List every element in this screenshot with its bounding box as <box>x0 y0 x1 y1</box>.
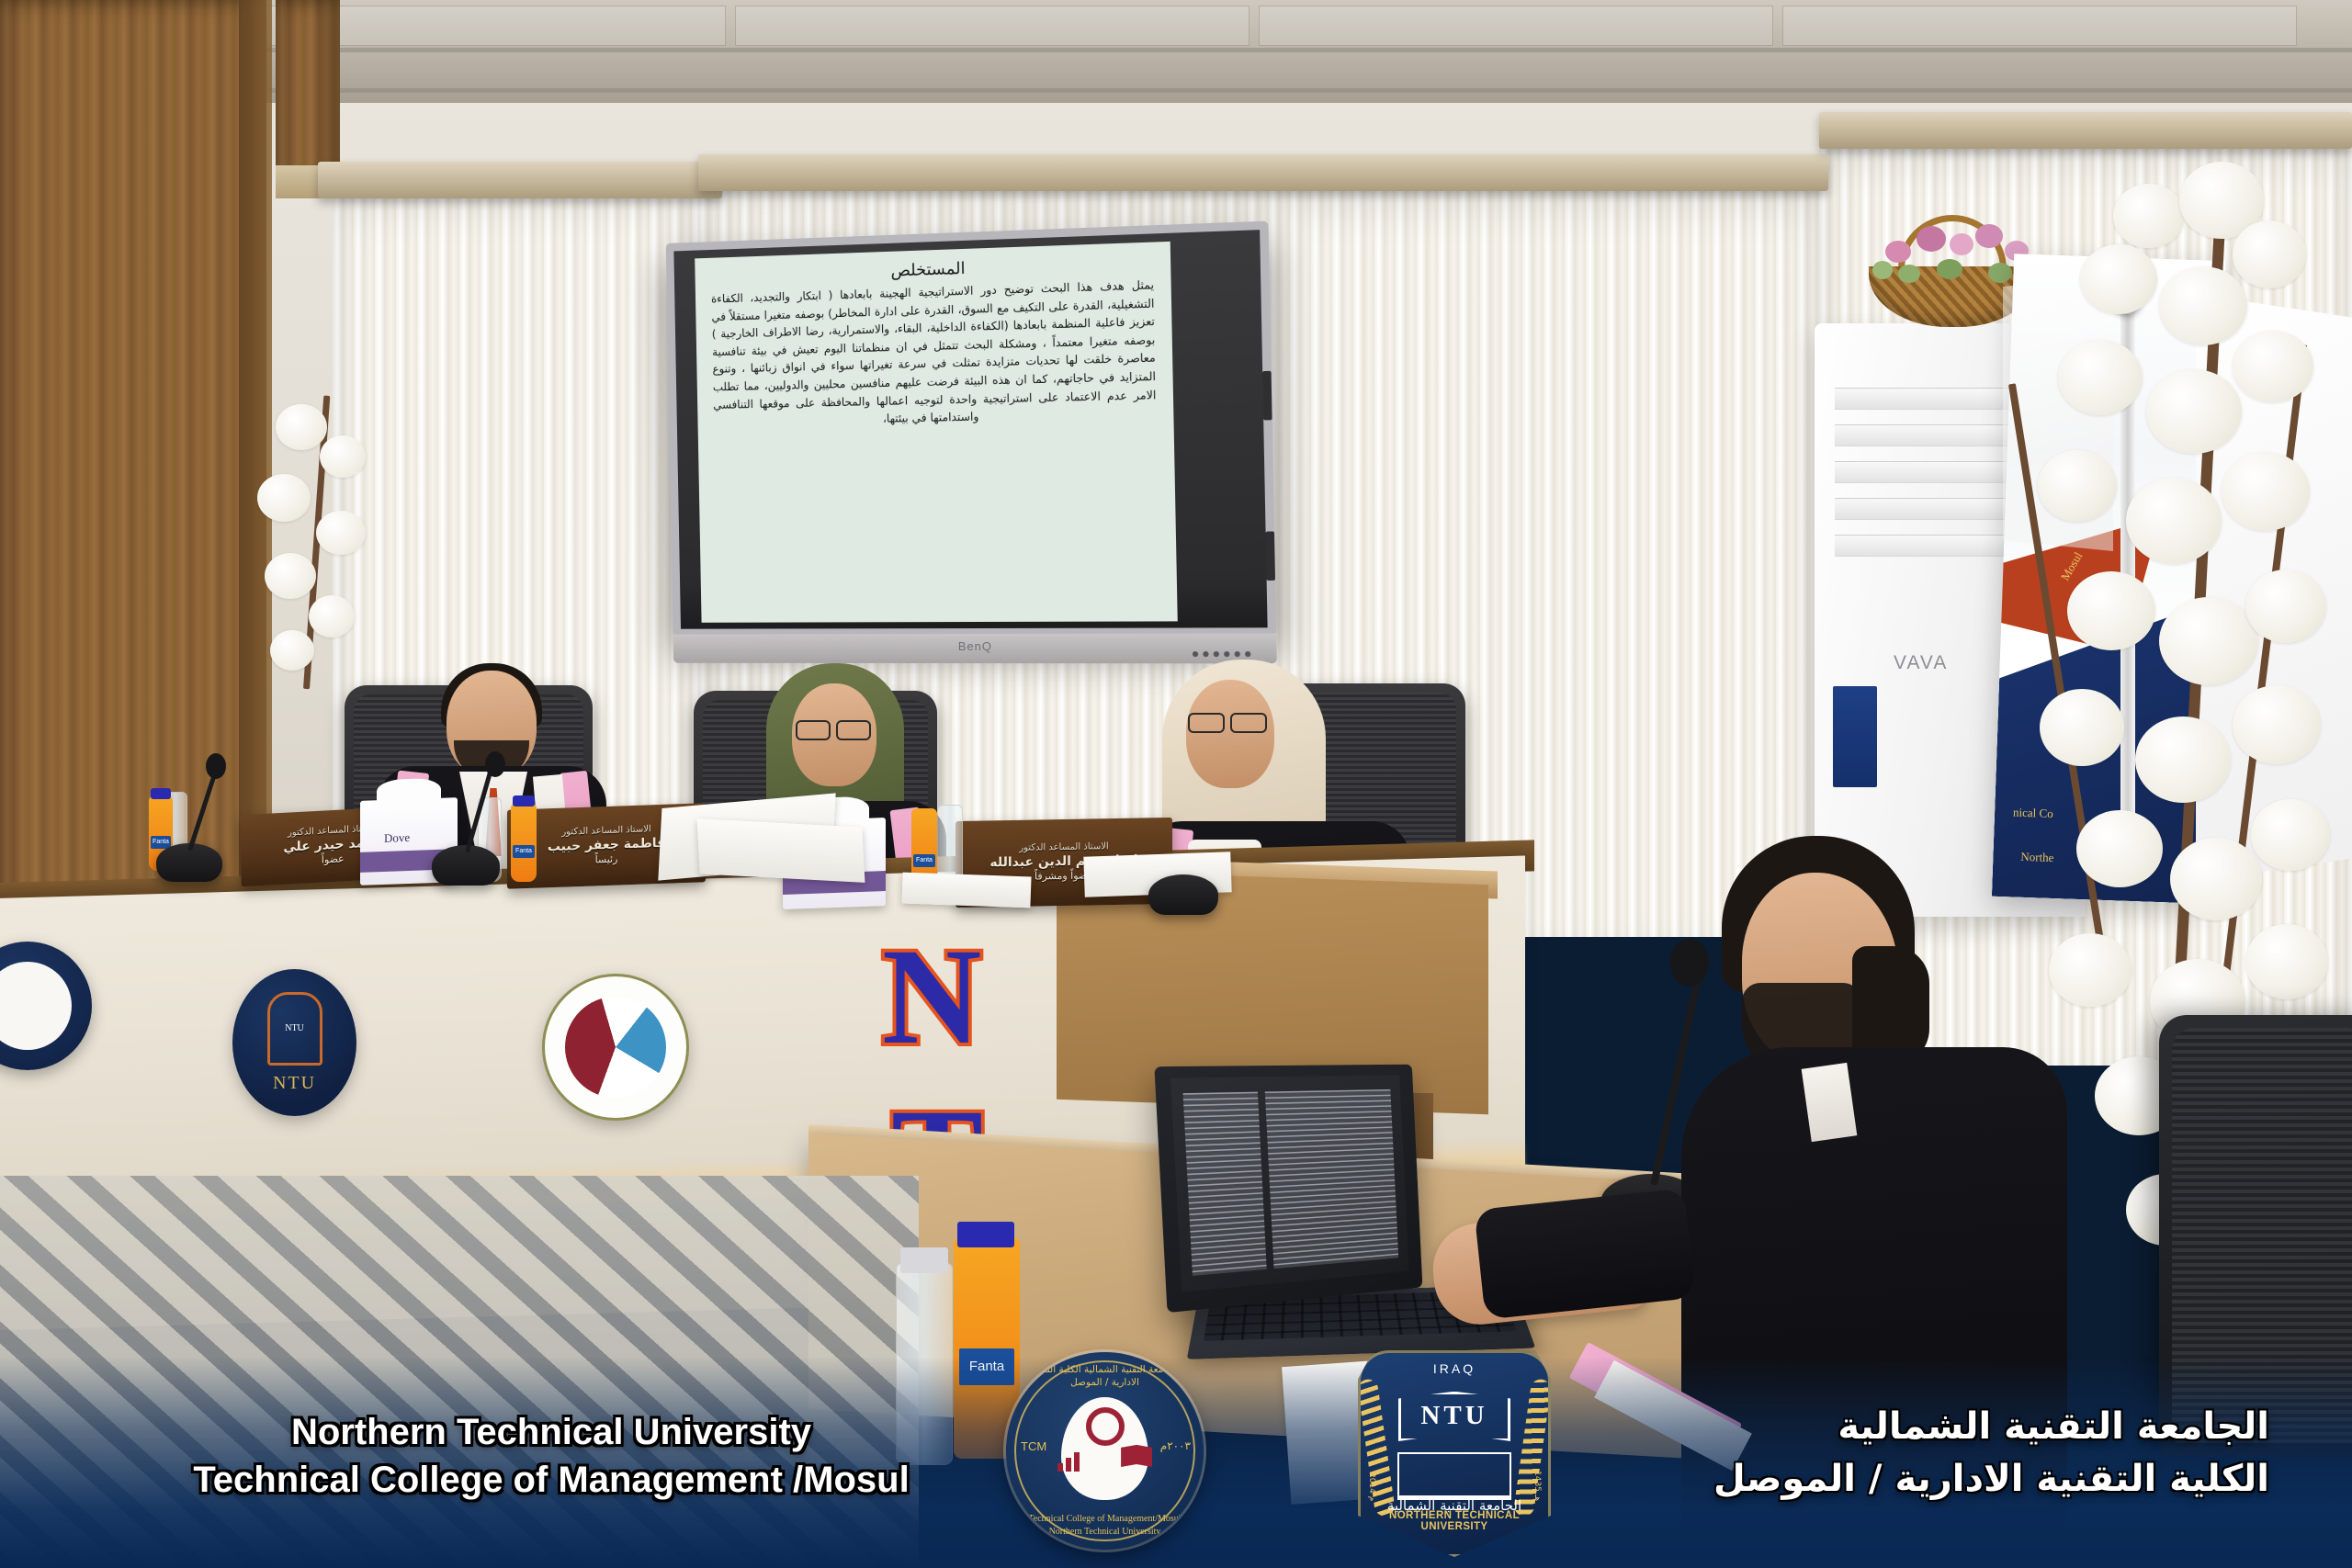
bottle-cap <box>151 788 171 799</box>
bar-chart-icon <box>1057 1451 1080 1472</box>
smart-board[interactable]: المستخلص يمثل هدف هذا البحث توضيح دور ال… <box>666 221 1277 637</box>
paper-stack <box>697 818 865 883</box>
curtain-rail-center <box>698 154 1828 191</box>
curtain-rail-left <box>318 162 722 198</box>
seal-ntu-monogram: NTU <box>1361 1401 1548 1431</box>
nameplate-name: فاطمة جعفر حبيب <box>548 836 665 855</box>
gear-icon <box>1086 1407 1125 1446</box>
overlay-arabic-branding: الجامعة التقنية الشمالية الكلية التقنية … <box>1516 1401 2269 1506</box>
ntu-shield-mark: NTU <box>267 992 322 1066</box>
photo-scene: المستخلص يمثل هدف هذا البحث توضيح دور ال… <box>0 0 2352 1568</box>
curtain-rail-right <box>1819 112 2352 149</box>
board-side-button[interactable] <box>1266 531 1275 580</box>
tissue-brand-label: Dove <box>384 830 410 846</box>
eyeglasses <box>1230 713 1267 733</box>
ceiling-panel <box>1259 6 1773 46</box>
seal-tcm-year: ٢٠٠٣م <box>1160 1439 1191 1452</box>
ministry-logo <box>542 974 689 1121</box>
microphone-head-front <box>1670 939 1709 987</box>
overlay-arabic-line2: الكلية التقنية الادارية / الموصل <box>1516 1453 2269 1506</box>
seal-northern-technical-university: IRAQ NTU م 2014 هـ 1435 الجامعة التقنية … <box>1358 1350 1551 1557</box>
seal-tcm-english: Technical College of Management/Mosul No… <box>1006 1513 1204 1539</box>
microphone-head <box>206 753 226 779</box>
nameplate-role: رئيساً <box>595 854 618 867</box>
bottle-cap <box>957 1222 1014 1247</box>
ntu-shield-label: NTU <box>285 1023 304 1033</box>
nameplate-rank: الاستاذ المساعد الدكتور <box>561 824 650 838</box>
slide-screen: المستخلص يمثل هدف هذا البحث توضيح دور ال… <box>695 242 1178 623</box>
overlay-arabic-line1: الجامعة التقنية الشمالية <box>1516 1401 2269 1453</box>
ceiling-panel <box>735 6 1249 46</box>
soda-brand-label: Fanta <box>513 845 535 858</box>
nameplate-rank: الاستاذ المساعد الدكتور <box>1019 841 1108 853</box>
soda-bottle: Fanta <box>511 803 537 882</box>
laptop-lid[interactable] <box>1154 1065 1422 1313</box>
seal-tcm-arabic: الجامعة التقنية الشمالية الكلية التقنية … <box>1006 1363 1204 1389</box>
eyeglasses <box>796 720 831 740</box>
board-indicator-dots <box>1193 651 1251 657</box>
document-column <box>1183 1092 1267 1276</box>
foreground-office-chair <box>2159 1015 2352 1456</box>
paper-stack <box>901 873 1031 908</box>
soda-brand-label: Fanta <box>913 854 935 867</box>
seal-technical-college-management: الجامعة التقنية الشمالية الكلية التقنية … <box>1006 1352 1204 1550</box>
seal-ntu-english: NORTHERN TECHNICAL UNIVERSITY <box>1361 1510 1548 1532</box>
ntu-disc-label: NTU <box>273 1073 316 1094</box>
desk-letter-n: N <box>882 928 981 1066</box>
seal-ntu-country: IRAQ <box>1361 1361 1548 1376</box>
ntu-disc-logo: NTU NTU <box>232 969 356 1116</box>
nameplate-role: عضواً <box>322 854 345 867</box>
laptop-screen[interactable] <box>1170 1075 1408 1292</box>
microphone-base[interactable] <box>1148 874 1218 915</box>
ceiling <box>0 0 2352 103</box>
overlay-english-branding: Northern Technical University Technical … <box>110 1408 992 1504</box>
document-column <box>1265 1089 1398 1269</box>
microphone-head <box>485 751 505 777</box>
campus-building-icon <box>1397 1452 1511 1500</box>
ceiling-panel <box>1782 6 2297 46</box>
seal-tcm-abbrev: TCM <box>1021 1439 1046 1453</box>
student-sleeve <box>1474 1188 1695 1319</box>
bottle-cap <box>513 795 535 807</box>
overlay-english-line2: Technical College of Management /Mosul <box>110 1456 992 1504</box>
floor-carpet <box>0 1176 919 1568</box>
ac-spec-sticker <box>1833 686 1877 787</box>
book-icon <box>1121 1445 1152 1467</box>
overlay-english-line1: Northern Technical University <box>110 1408 992 1456</box>
board-side-button[interactable] <box>1262 371 1272 421</box>
bottle-cap <box>900 1247 948 1273</box>
tissue-puff <box>377 778 441 809</box>
slide-body: يمثل هدف هذا البحث توضيح دور الاستراتيجي… <box>709 276 1159 431</box>
head <box>1186 680 1274 788</box>
eyeglasses <box>836 720 871 740</box>
sakura-branch-left <box>220 395 395 689</box>
eyeglasses <box>1188 713 1225 733</box>
